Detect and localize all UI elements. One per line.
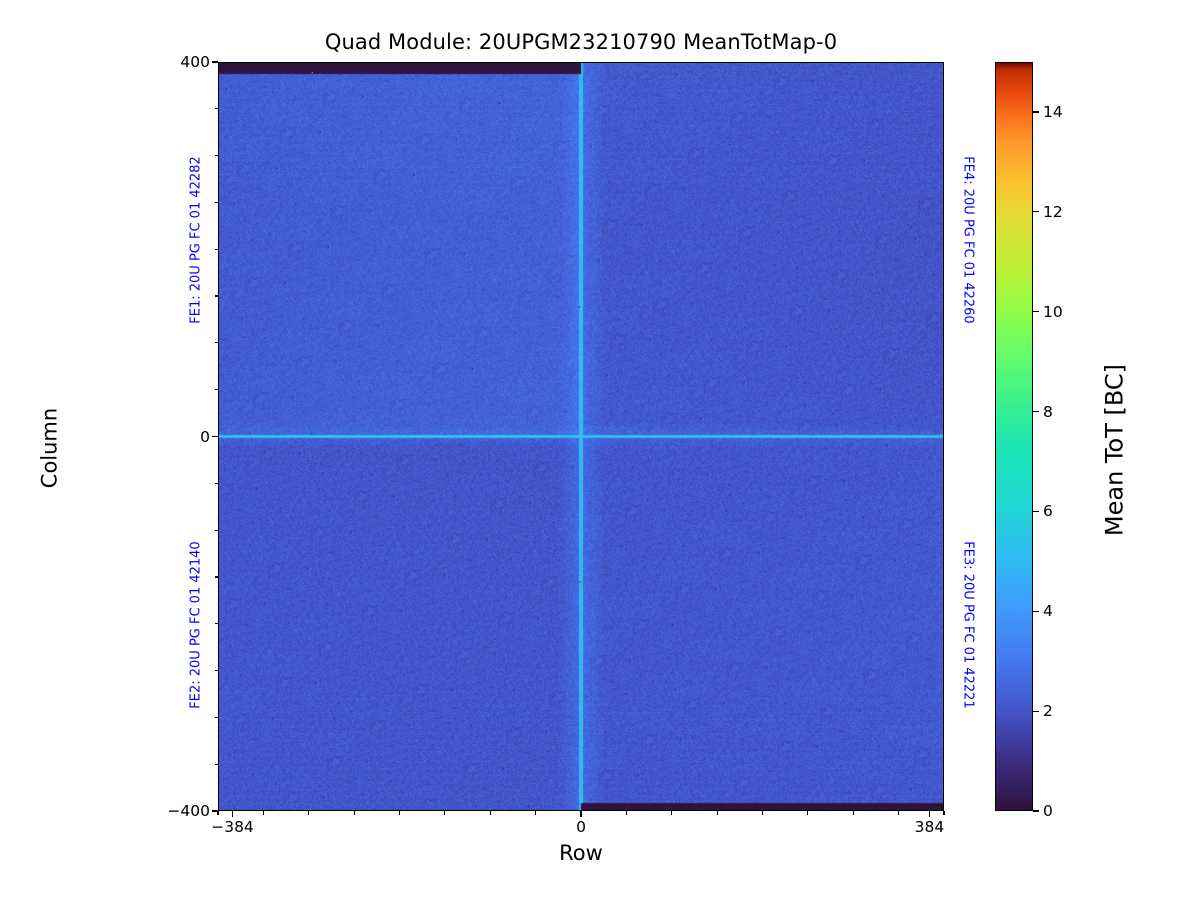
x-tick-label: 384 bbox=[915, 818, 945, 836]
y-tick-minor bbox=[215, 249, 219, 250]
x-tick-minor bbox=[308, 811, 309, 815]
x-tick-minor bbox=[943, 811, 944, 815]
x-tick-minor bbox=[717, 811, 718, 815]
y-tick-minor bbox=[215, 108, 219, 109]
x-tick-minor bbox=[399, 811, 400, 815]
y-tick-minor bbox=[215, 155, 219, 156]
x-tick-minor bbox=[535, 811, 536, 815]
colorbar-tick bbox=[1033, 511, 1039, 512]
colorbar-tick bbox=[1033, 810, 1039, 811]
heatmap-axes bbox=[218, 62, 944, 811]
x-tick-major bbox=[232, 811, 233, 817]
colorbar-tick bbox=[1033, 111, 1039, 112]
x-tick-minor bbox=[762, 811, 763, 815]
y-axis-label: Column bbox=[38, 74, 62, 823]
x-tick-major bbox=[929, 811, 930, 817]
y-tick-minor bbox=[215, 670, 219, 671]
colorbar-tick-label: 0 bbox=[1043, 802, 1053, 820]
y-tick-major bbox=[212, 61, 218, 62]
colorbar-label: Mean ToT [BC] bbox=[1101, 76, 1129, 825]
x-axis-label: Row bbox=[218, 841, 944, 865]
heatmap-image bbox=[219, 63, 943, 810]
y-tick-minor bbox=[215, 530, 219, 531]
x-tick-major bbox=[580, 811, 581, 817]
y-tick-minor bbox=[215, 342, 219, 343]
y-tick-minor bbox=[215, 483, 219, 484]
colorbar-gradient bbox=[996, 63, 1032, 810]
x-tick-label: −384 bbox=[211, 818, 254, 836]
x-tick-minor bbox=[444, 811, 445, 815]
y-tick-label: 0 bbox=[160, 428, 210, 446]
y-tick-minor bbox=[215, 764, 219, 765]
x-tick-minor bbox=[354, 811, 355, 815]
chip-label-fe1: FE1: 20U PG FC 01 42282 bbox=[189, 156, 204, 323]
colorbar-tick bbox=[1033, 411, 1039, 412]
y-tick-minor bbox=[215, 717, 219, 718]
x-tick-minor bbox=[626, 811, 627, 815]
colorbar-tick-label: 10 bbox=[1043, 303, 1063, 321]
chip-label-fe2: FE2: 20U PG FC 01 42140 bbox=[189, 541, 204, 708]
colorbar-tick-label: 14 bbox=[1043, 103, 1063, 121]
x-tick-minor bbox=[263, 811, 264, 815]
y-tick-label: −400 bbox=[160, 802, 210, 820]
x-tick-minor bbox=[807, 811, 808, 815]
x-tick-minor bbox=[898, 811, 899, 815]
chip-label-fe4: FE4: 20U PG FC 01 42260 bbox=[961, 156, 976, 323]
y-tick-major bbox=[212, 436, 218, 437]
y-tick-minor bbox=[215, 389, 219, 390]
colorbar bbox=[995, 62, 1033, 811]
y-tick-minor bbox=[215, 576, 219, 577]
y-tick-minor bbox=[215, 202, 219, 203]
colorbar-tick-label: 12 bbox=[1043, 203, 1063, 221]
page-title: Quad Module: 20UPGM23210790 MeanTotMap-0 bbox=[218, 30, 944, 54]
y-tick-label: 400 bbox=[160, 53, 210, 71]
colorbar-tick-label: 2 bbox=[1043, 702, 1053, 720]
matplotlib-figure: Quad Module: 20UPGM23210790 MeanTotMap-0… bbox=[0, 0, 1200, 900]
colorbar-tick-label: 6 bbox=[1043, 502, 1053, 520]
x-tick-minor bbox=[671, 811, 672, 815]
colorbar-tick-label: 4 bbox=[1043, 602, 1053, 620]
x-tick-minor bbox=[853, 811, 854, 815]
x-tick-minor bbox=[490, 811, 491, 815]
colorbar-tick bbox=[1033, 211, 1039, 212]
y-tick-minor bbox=[215, 623, 219, 624]
chip-label-fe3: FE3: 20U PG FC 01 42221 bbox=[961, 541, 976, 708]
y-tick-minor bbox=[215, 295, 219, 296]
colorbar-tick bbox=[1033, 611, 1039, 612]
colorbar-tick-label: 8 bbox=[1043, 403, 1053, 421]
x-tick-minor bbox=[217, 811, 218, 815]
colorbar-tick bbox=[1033, 711, 1039, 712]
colorbar-tick bbox=[1033, 311, 1039, 312]
x-tick-label: 0 bbox=[576, 818, 586, 836]
